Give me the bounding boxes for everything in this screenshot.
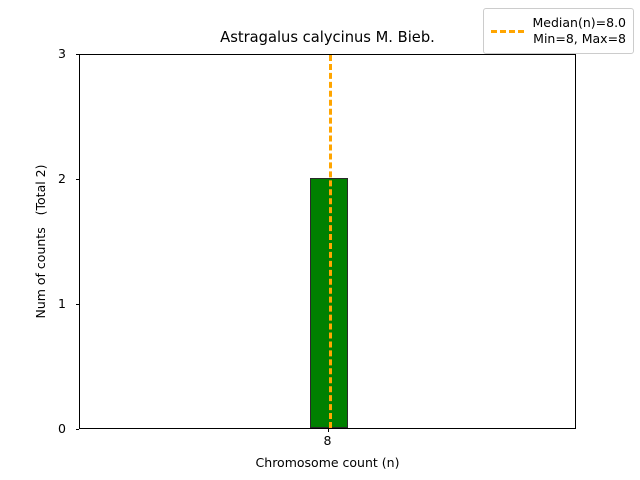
plot-area — [79, 54, 576, 429]
legend-median-label: Median(n)=8.0 — [533, 15, 627, 31]
legend-entry: Median(n)=8.0 Min=8, Max=8 — [491, 15, 627, 47]
legend-dashed-line-icon — [491, 24, 524, 38]
median-line — [329, 55, 332, 428]
y-axis-title: Num of counts (Total 2) — [30, 54, 52, 429]
y-tick-label: 0 — [26, 423, 66, 435]
legend-minmax-label: Min=8, Max=8 — [533, 31, 627, 47]
x-axis-title: Chromosome count (n) — [79, 455, 576, 470]
chart-legend: Median(n)=8.0 Min=8, Max=8 — [483, 8, 635, 54]
y-tick-mark — [76, 429, 80, 430]
y-tick-label: 2 — [26, 173, 66, 185]
x-tick-label: 8 — [298, 434, 358, 448]
y-tick-label: 3 — [26, 48, 66, 60]
y-tick-label: 1 — [26, 298, 66, 310]
x-tick-mark — [328, 429, 329, 433]
figure-canvas: Astragalus calycinus M. Bieb. Num of cou… — [0, 0, 640, 480]
legend-entry-label: Median(n)=8.0 Min=8, Max=8 — [533, 15, 627, 47]
